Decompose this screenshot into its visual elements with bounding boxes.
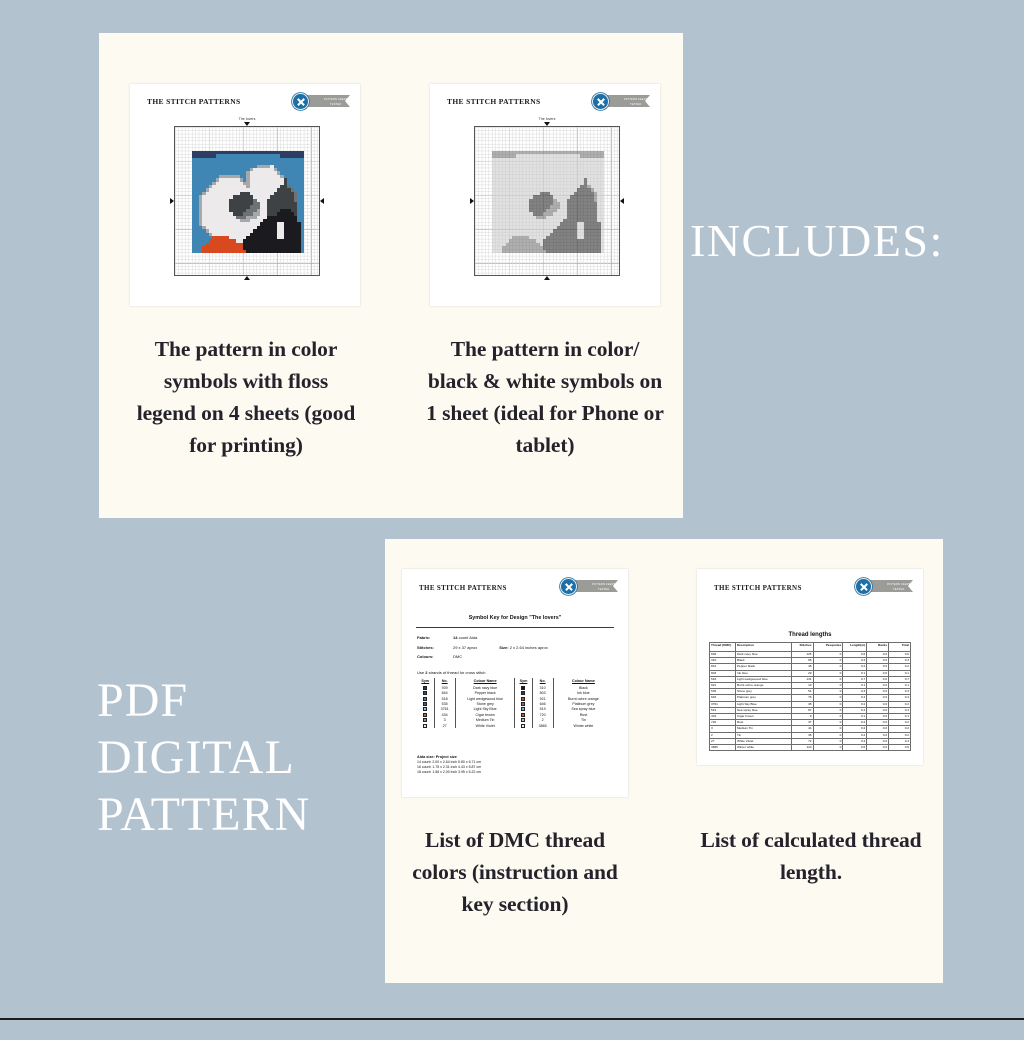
aida-project-size: Aida size: Project size 14 count: 2.00 x…: [417, 755, 481, 775]
sheet-brand-title: THE STITCH PATTERNS: [419, 584, 507, 592]
fabric-label: Fabric:: [417, 633, 453, 643]
center-marker-left-icon: [470, 198, 474, 204]
col-desc: Description: [735, 643, 791, 652]
sheet-preview-symbol-key[interactable]: THE STITCH PATTERNS PATTERN KEEPER TESTE…: [402, 569, 628, 797]
backs-cell: 0.0: [867, 745, 889, 751]
floss-symbol-icon: [521, 707, 525, 711]
chart-area: The lovers: [474, 126, 620, 276]
x-seal-icon: [855, 578, 872, 595]
stitch-grid: [474, 126, 620, 276]
badge-ribbon: PATTERN KEEPER TESTED: [572, 580, 618, 592]
pdf-digital-pattern-heading: PDF DIGITAL PATTERN: [97, 672, 310, 843]
pattern-keeper-tested-badge: PATTERN KEEPER TESTED: [292, 93, 350, 110]
chart-design-label: The lovers: [539, 117, 556, 121]
table-row: 27White Violet3865Winter white: [417, 723, 613, 728]
table-header-row: Sym No. Colour Name Sym No. Colour Name: [417, 678, 613, 685]
sheet-brand-title: THE STITCH PATTERNS: [147, 97, 240, 106]
floss-symbol-icon: [423, 707, 427, 711]
floss-symbol-icon: [521, 713, 525, 717]
fabric-value: count Aida: [457, 635, 477, 640]
col-backs: Backs: [867, 643, 889, 652]
col-thread: Thread (DMC): [710, 643, 736, 652]
pattern-motif-color: [192, 151, 304, 253]
badge-line-1: PATTERN KEEPER: [592, 583, 618, 586]
table-header-row: Thread (DMC) Description Stitches Pesqun…: [710, 643, 911, 652]
colours-label: Colours:: [417, 652, 453, 662]
pdf-line-2: DIGITAL: [97, 729, 310, 786]
floss-name-cell: Winter white: [553, 723, 613, 728]
badge-line-2: TESTED: [893, 588, 904, 591]
x-seal-icon: [592, 93, 609, 110]
center-marker-top-icon: [244, 122, 250, 126]
sheet-brand-title: THE STITCH PATTERNS: [447, 97, 540, 106]
floss-symbol-icon: [521, 686, 525, 690]
pdf-line-3: PATTERN: [97, 786, 310, 843]
symbol-key-heading: Symbol Key for Design "The lovers": [402, 615, 628, 621]
thread-lengths-table: Thread (DMC) Description Stitches Pesqun…: [709, 642, 911, 751]
center-marker-bottom-icon: [544, 276, 550, 280]
col-no-left: No.: [434, 678, 455, 685]
floss-symbol-icon: [423, 702, 427, 706]
floss-symbol-icon: [423, 724, 427, 728]
floss-number-cell: 27: [434, 723, 455, 728]
total-cell: 0.6: [889, 745, 911, 751]
pattern-motif-bw: [492, 151, 604, 253]
pattern-keeper-tested-badge: PATTERN KEEPER TESTED: [560, 578, 618, 595]
project-meta: Fabric:14 count Aida Stitches:29 x 37 ap…: [417, 633, 617, 677]
caption-bw-symbols: The pattern in color/ black & white symb…: [424, 333, 666, 461]
x-seal-icon: [292, 93, 309, 110]
badge-line-2: TESTED: [598, 588, 609, 591]
divider: [416, 627, 614, 628]
col-name-left: Colour Name: [455, 678, 515, 685]
badge-line-1: PATTERN KEEPER: [887, 583, 913, 586]
col-sym-left: Sym: [417, 678, 434, 685]
caption-thread-length: List of calculated thread length.: [695, 824, 927, 888]
floss-symbol-icon: [423, 691, 427, 695]
footer-bar: [0, 1020, 1024, 1040]
colours-value: DMC: [453, 654, 462, 659]
aida-size-line: 18 count: 1.56 x 2.00 inch 3.95 x 5.22 c…: [417, 770, 481, 775]
badge-line-1: PATTERN KEEPER: [624, 98, 650, 101]
size-value: 2 x 2.64 inches aprox: [510, 645, 548, 650]
strands-note: Use 2 strands of thread for cross stitch: [417, 668, 617, 678]
x-seal-icon: [560, 578, 577, 595]
badge-ribbon: PATTERN KEEPER TESTED: [304, 95, 350, 107]
badge-line-1: PATTERN KEEPER: [324, 98, 350, 101]
sheet-brand-title: THE STITCH PATTERNS: [714, 584, 802, 592]
floss-name-cell: White Violet: [455, 723, 515, 728]
center-marker-top-icon: [544, 122, 550, 126]
symbol-key-table: Sym No. Colour Name Sym No. Colour Name …: [417, 678, 613, 728]
pesquntes-cell: 0: [813, 745, 843, 751]
chart-area: The lovers: [174, 126, 320, 276]
floss-symbol-icon: [423, 718, 427, 722]
floss-symbol-icon: [521, 718, 525, 722]
badge-line-2: TESTED: [630, 103, 641, 106]
center-marker-right-icon: [620, 198, 624, 204]
sheet-preview-thread-lengths[interactable]: THE STITCH PATTERNS PATTERN KEEPER TESTE…: [697, 569, 923, 765]
badge-ribbon: PATTERN KEEPER TESTED: [867, 580, 913, 592]
col-no-right: No.: [532, 678, 553, 685]
badge-line-2: TESTED: [330, 103, 341, 106]
center-marker-bottom-icon: [244, 276, 250, 280]
floss-symbol-icon: [521, 697, 525, 701]
sheet-preview-color-symbols[interactable]: THE STITCH PATTERNS PATTERN KEEPER TESTE…: [130, 84, 360, 306]
center-marker-left-icon: [170, 198, 174, 204]
stitches-value: 29 x 37 aprox: [453, 645, 477, 650]
includes-heading: INCLUDES:: [690, 214, 944, 267]
floss-symbol-icon: [423, 697, 427, 701]
stitches-cell: 110: [791, 745, 813, 751]
caption-color-symbols: The pattern in color symbols with floss …: [132, 333, 360, 461]
length-cell: 0.6: [843, 745, 867, 751]
aida-size-title: Aida size: Project size: [417, 755, 457, 759]
pattern-keeper-tested-badge: PATTERN KEEPER TESTED: [592, 93, 650, 110]
stitches-label: Stitches:: [417, 643, 453, 653]
col-stitches: Stitches: [791, 643, 813, 652]
table-row: 3865Winter white11000.60.00.6: [710, 745, 911, 751]
floss-symbol-icon: [521, 702, 525, 706]
size-label: Size:: [499, 645, 508, 650]
thread-description-cell: Winter white: [735, 745, 791, 751]
caption-dmc-list: List of DMC thread colors (instruction a…: [398, 824, 632, 920]
thread-lengths-heading: Thread lengths: [697, 632, 923, 638]
floss-symbol-icon: [423, 713, 427, 717]
col-length: Length(m): [843, 643, 867, 652]
floss-symbol-icon: [521, 691, 525, 695]
chart-design-label: The lovers: [239, 117, 256, 121]
floss-number-cell: 3865: [532, 723, 553, 728]
col-name-right: Colour Name: [553, 678, 613, 685]
center-marker-right-icon: [320, 198, 324, 204]
pattern-keeper-tested-badge: PATTERN KEEPER TESTED: [855, 578, 913, 595]
sheet-preview-bw-symbols[interactable]: THE STITCH PATTERNS PATTERN KEEPER TESTE…: [430, 84, 660, 306]
col-total: Total: [889, 643, 911, 652]
stitch-grid: [174, 126, 320, 276]
symbol-swatch-cell: [417, 723, 434, 728]
col-pesquntes: Pesquntes: [813, 643, 843, 652]
badge-ribbon: PATTERN KEEPER TESTED: [604, 95, 650, 107]
col-sym-right: Sym: [515, 678, 532, 685]
pdf-line-1: PDF: [97, 672, 310, 729]
floss-symbol-icon: [423, 686, 427, 690]
floss-symbol-icon: [521, 724, 525, 728]
symbol-swatch-cell: [515, 723, 532, 728]
thread-number-cell: 3865: [710, 745, 736, 751]
